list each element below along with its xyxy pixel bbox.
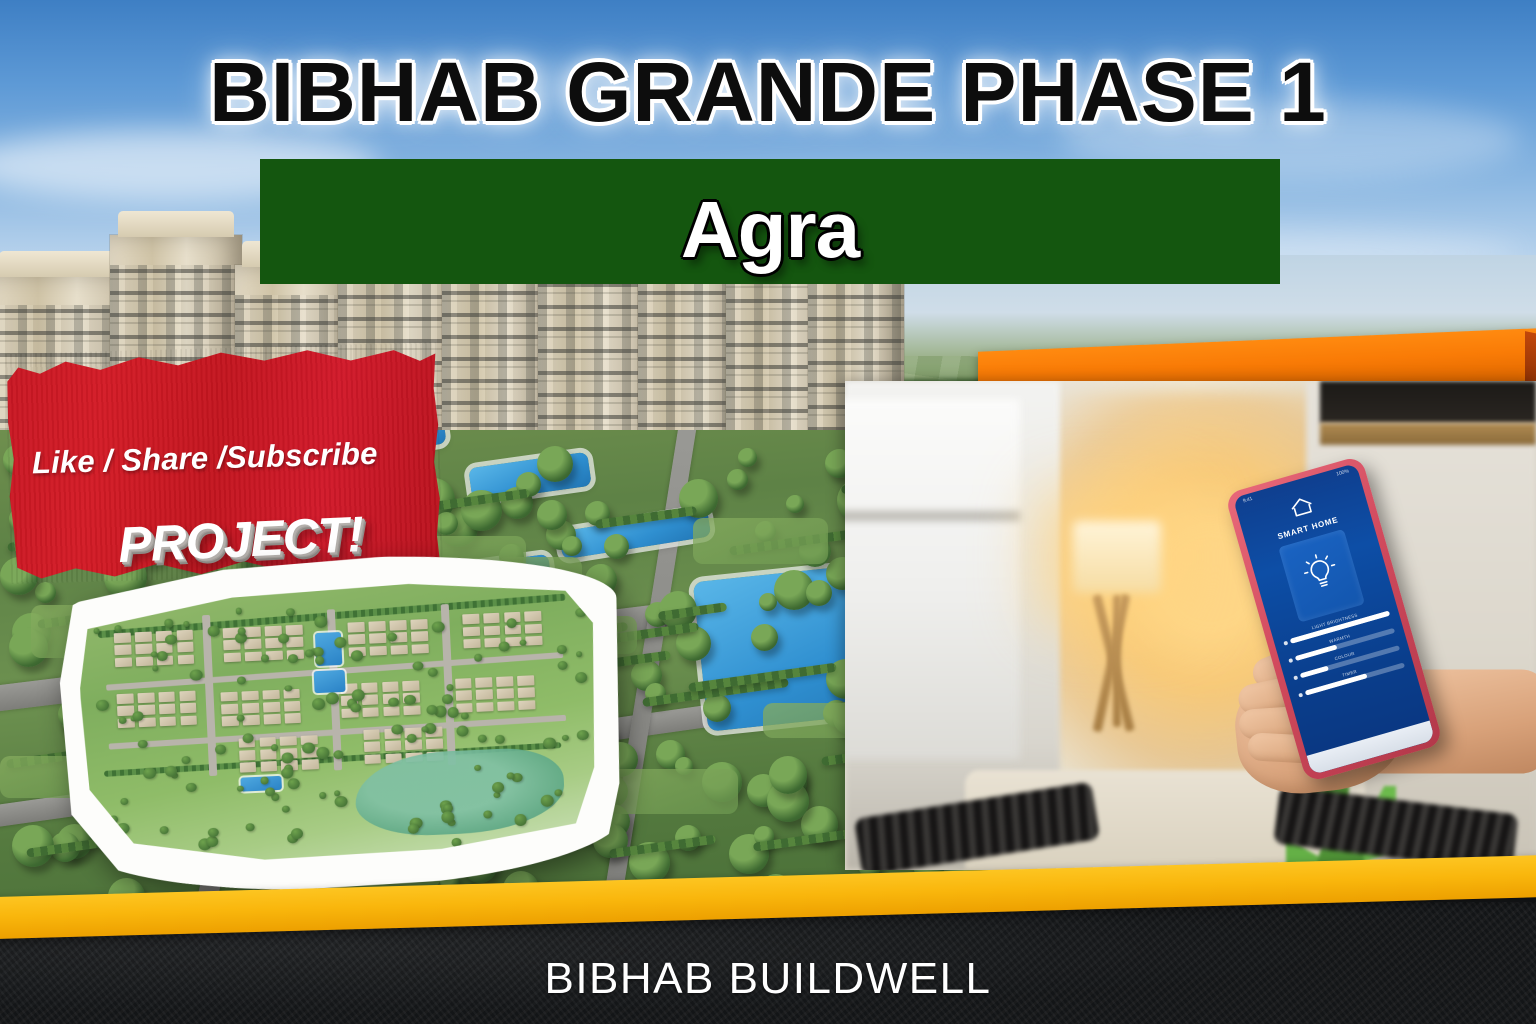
plot-unit [348, 634, 365, 644]
tree [537, 446, 573, 482]
lawn [693, 518, 828, 564]
plot-unit [284, 713, 301, 723]
plot-unit [239, 750, 256, 760]
plan-tree [281, 753, 293, 764]
cta-banner: Like / Share /Subscribe PROJECT! [5, 342, 443, 584]
plot-unit [180, 715, 197, 725]
plan-tree [498, 642, 509, 652]
slider-dot-icon [1283, 640, 1288, 645]
plot-unit [114, 645, 131, 655]
plot-unit [382, 682, 399, 692]
plot-unit [159, 704, 176, 714]
wood-shelf [1320, 423, 1536, 445]
plan-tree [260, 777, 269, 785]
plot-unit [411, 644, 428, 654]
plot-unit [262, 690, 279, 700]
plot-unit [179, 703, 196, 713]
plan-tree [152, 665, 159, 671]
plot-unit [411, 631, 428, 641]
plan-tree [413, 661, 424, 671]
plot-unit [497, 689, 514, 699]
plan-tree [288, 654, 298, 663]
plot-unit [245, 651, 262, 661]
lightbulb-icon [1298, 547, 1346, 604]
plan-tree [235, 608, 242, 614]
window [845, 399, 1020, 759]
plan-tree [447, 707, 459, 718]
plan-tree [138, 740, 148, 749]
plot-unit [403, 681, 420, 691]
plan-tree [514, 814, 527, 826]
plan-tree [506, 772, 514, 780]
plan-tree [208, 828, 219, 838]
tree [759, 593, 777, 611]
plan-tree [446, 684, 454, 691]
plot-unit [475, 677, 492, 687]
tree [35, 582, 56, 603]
slider-dot-icon [1298, 692, 1303, 697]
plan-tree [334, 637, 347, 649]
plan-tree [186, 782, 197, 792]
plot-unit [362, 707, 379, 717]
plot-unit [370, 645, 387, 655]
city-name: Agra [681, 192, 859, 268]
plan-tree [404, 694, 416, 705]
plan-tree [506, 618, 517, 628]
plan-tree [478, 734, 487, 742]
plot-unit [117, 706, 134, 716]
device-card[interactable] [1278, 529, 1365, 623]
plan-tree [181, 755, 191, 764]
plot-unit [385, 741, 402, 751]
plan-tree [159, 826, 168, 835]
plan-tree [143, 767, 156, 779]
plot-unit [244, 639, 261, 649]
plan-tree [391, 724, 403, 735]
plan-tree [302, 742, 315, 754]
plan-tree [461, 712, 469, 719]
plot-unit [115, 657, 132, 667]
plot-unit [404, 705, 421, 715]
plot-unit [455, 678, 472, 688]
plan-tree [557, 645, 567, 654]
plot-unit [263, 702, 280, 712]
plan-tree [164, 619, 173, 627]
plan-tree [575, 672, 587, 683]
plot-unit [369, 621, 386, 631]
plot-unit [383, 706, 400, 716]
plan-tree [442, 694, 453, 704]
plot-unit [177, 642, 194, 652]
plot-unit [179, 691, 196, 701]
plan-tree [314, 615, 328, 628]
plot-unit [526, 636, 543, 646]
tree [769, 756, 807, 794]
plan-tree [554, 789, 562, 796]
plan-tree [237, 714, 245, 721]
plot-unit [369, 633, 386, 643]
plan-tree [474, 654, 483, 662]
plot-unit [389, 620, 406, 630]
tree [537, 500, 567, 530]
plot-unit [260, 761, 277, 771]
plot-unit [135, 644, 152, 654]
plot-unit [221, 704, 238, 714]
plot-unit [284, 701, 301, 711]
plot-unit [221, 692, 238, 702]
plot-unit [240, 762, 257, 772]
plot-unit [364, 754, 381, 764]
tree [786, 495, 804, 513]
plot-unit [476, 689, 493, 699]
plan-tree [457, 725, 469, 736]
plan-tree [432, 621, 445, 632]
tower-roof [118, 211, 234, 237]
plan-tree [206, 835, 218, 846]
plot-unit [114, 633, 131, 643]
plot-unit [483, 613, 500, 623]
plan-tree [261, 655, 270, 663]
plot-unit [177, 654, 194, 664]
plot-unit [137, 693, 154, 703]
plot-unit [463, 638, 480, 648]
city-banner: Agra [260, 159, 1280, 284]
plot-unit [517, 675, 534, 685]
plot-unit [518, 700, 535, 710]
plot-unit [135, 632, 152, 642]
plan-tree [305, 649, 315, 658]
plan-tree [96, 699, 109, 711]
plan-tree [474, 765, 481, 771]
status-battery: 100% [1336, 468, 1351, 480]
plot-unit [280, 736, 297, 746]
brand-name: BIBHAB BUILDWELL [0, 954, 1536, 1004]
tree [806, 580, 832, 606]
plan-tree [576, 651, 583, 657]
plot-unit [518, 688, 535, 698]
plot-unit [241, 691, 258, 701]
plot-unit [302, 760, 319, 770]
status-time: 9:41 [1242, 496, 1254, 507]
plot-unit [263, 714, 280, 724]
plot-unit [525, 611, 542, 621]
tree [727, 469, 748, 490]
plan-tree [562, 735, 569, 742]
plan-tree [495, 734, 505, 743]
plot-unit [363, 730, 380, 740]
plot-unit [136, 656, 153, 666]
house-icon [1286, 493, 1318, 524]
plot-unit [496, 676, 513, 686]
plan-tree [287, 778, 300, 790]
plan-tree [351, 650, 363, 661]
plan-tree [312, 697, 326, 710]
plan-tree [316, 747, 329, 759]
plan-tree [246, 823, 255, 831]
floor-lamp-shade [1073, 521, 1161, 593]
plot-unit [525, 623, 542, 633]
ceiling-shelf [1320, 381, 1536, 423]
plot-unit [463, 626, 480, 636]
plan-tree [558, 661, 569, 671]
plot-unit [484, 625, 501, 635]
plot-unit [455, 690, 472, 700]
plot-unit [477, 702, 494, 712]
plan-tree [285, 685, 292, 692]
plot-unit [159, 716, 176, 726]
plot-unit [426, 739, 443, 749]
plan-tree [237, 676, 247, 685]
plot-unit [348, 622, 365, 632]
plan-tree [291, 828, 303, 839]
plot-unit [364, 742, 381, 752]
plan-tree [351, 703, 362, 713]
tree [751, 624, 778, 651]
plot-unit [410, 619, 427, 629]
plan-tree [270, 744, 278, 751]
plot-unit [285, 625, 302, 635]
plan-pool [314, 670, 346, 694]
plot-unit [176, 630, 193, 640]
plot-unit [391, 645, 408, 655]
slider-dot-icon [1293, 675, 1298, 680]
site-plan-drawing [76, 573, 609, 874]
plan-tree [335, 795, 348, 807]
plan-tree [282, 805, 290, 812]
smart-home-photo: 9:41 100% SMART HOME [845, 381, 1536, 870]
tree [738, 448, 757, 467]
plan-tree [165, 634, 177, 645]
plan-tree [238, 628, 246, 636]
plot-unit [243, 715, 260, 725]
plot-unit [158, 692, 175, 702]
plan-tree [215, 745, 226, 755]
plan-tree [281, 767, 294, 779]
plot-unit [117, 694, 134, 704]
plot-unit [224, 652, 241, 662]
plan-tree [577, 729, 589, 740]
plan-tree [428, 667, 438, 676]
lamp-leg [1113, 595, 1121, 727]
plot-unit [462, 614, 479, 624]
plan-tree [319, 792, 327, 799]
plan-tree [93, 628, 100, 634]
slider-dot-icon [1288, 658, 1293, 663]
plan-tree [406, 734, 416, 743]
plot-unit [497, 701, 514, 711]
plan-tree [421, 726, 429, 733]
poster-title: BIBHAB GRANDE PHASE 1 [0, 44, 1536, 141]
plot-unit [242, 703, 259, 713]
plan-tree [120, 797, 128, 805]
poster-canvas: BIBHAB GRANDE PHASE 1 Agra Like / Share … [0, 0, 1536, 1024]
plan-tree [208, 626, 220, 637]
site-plan-image [55, 545, 629, 900]
